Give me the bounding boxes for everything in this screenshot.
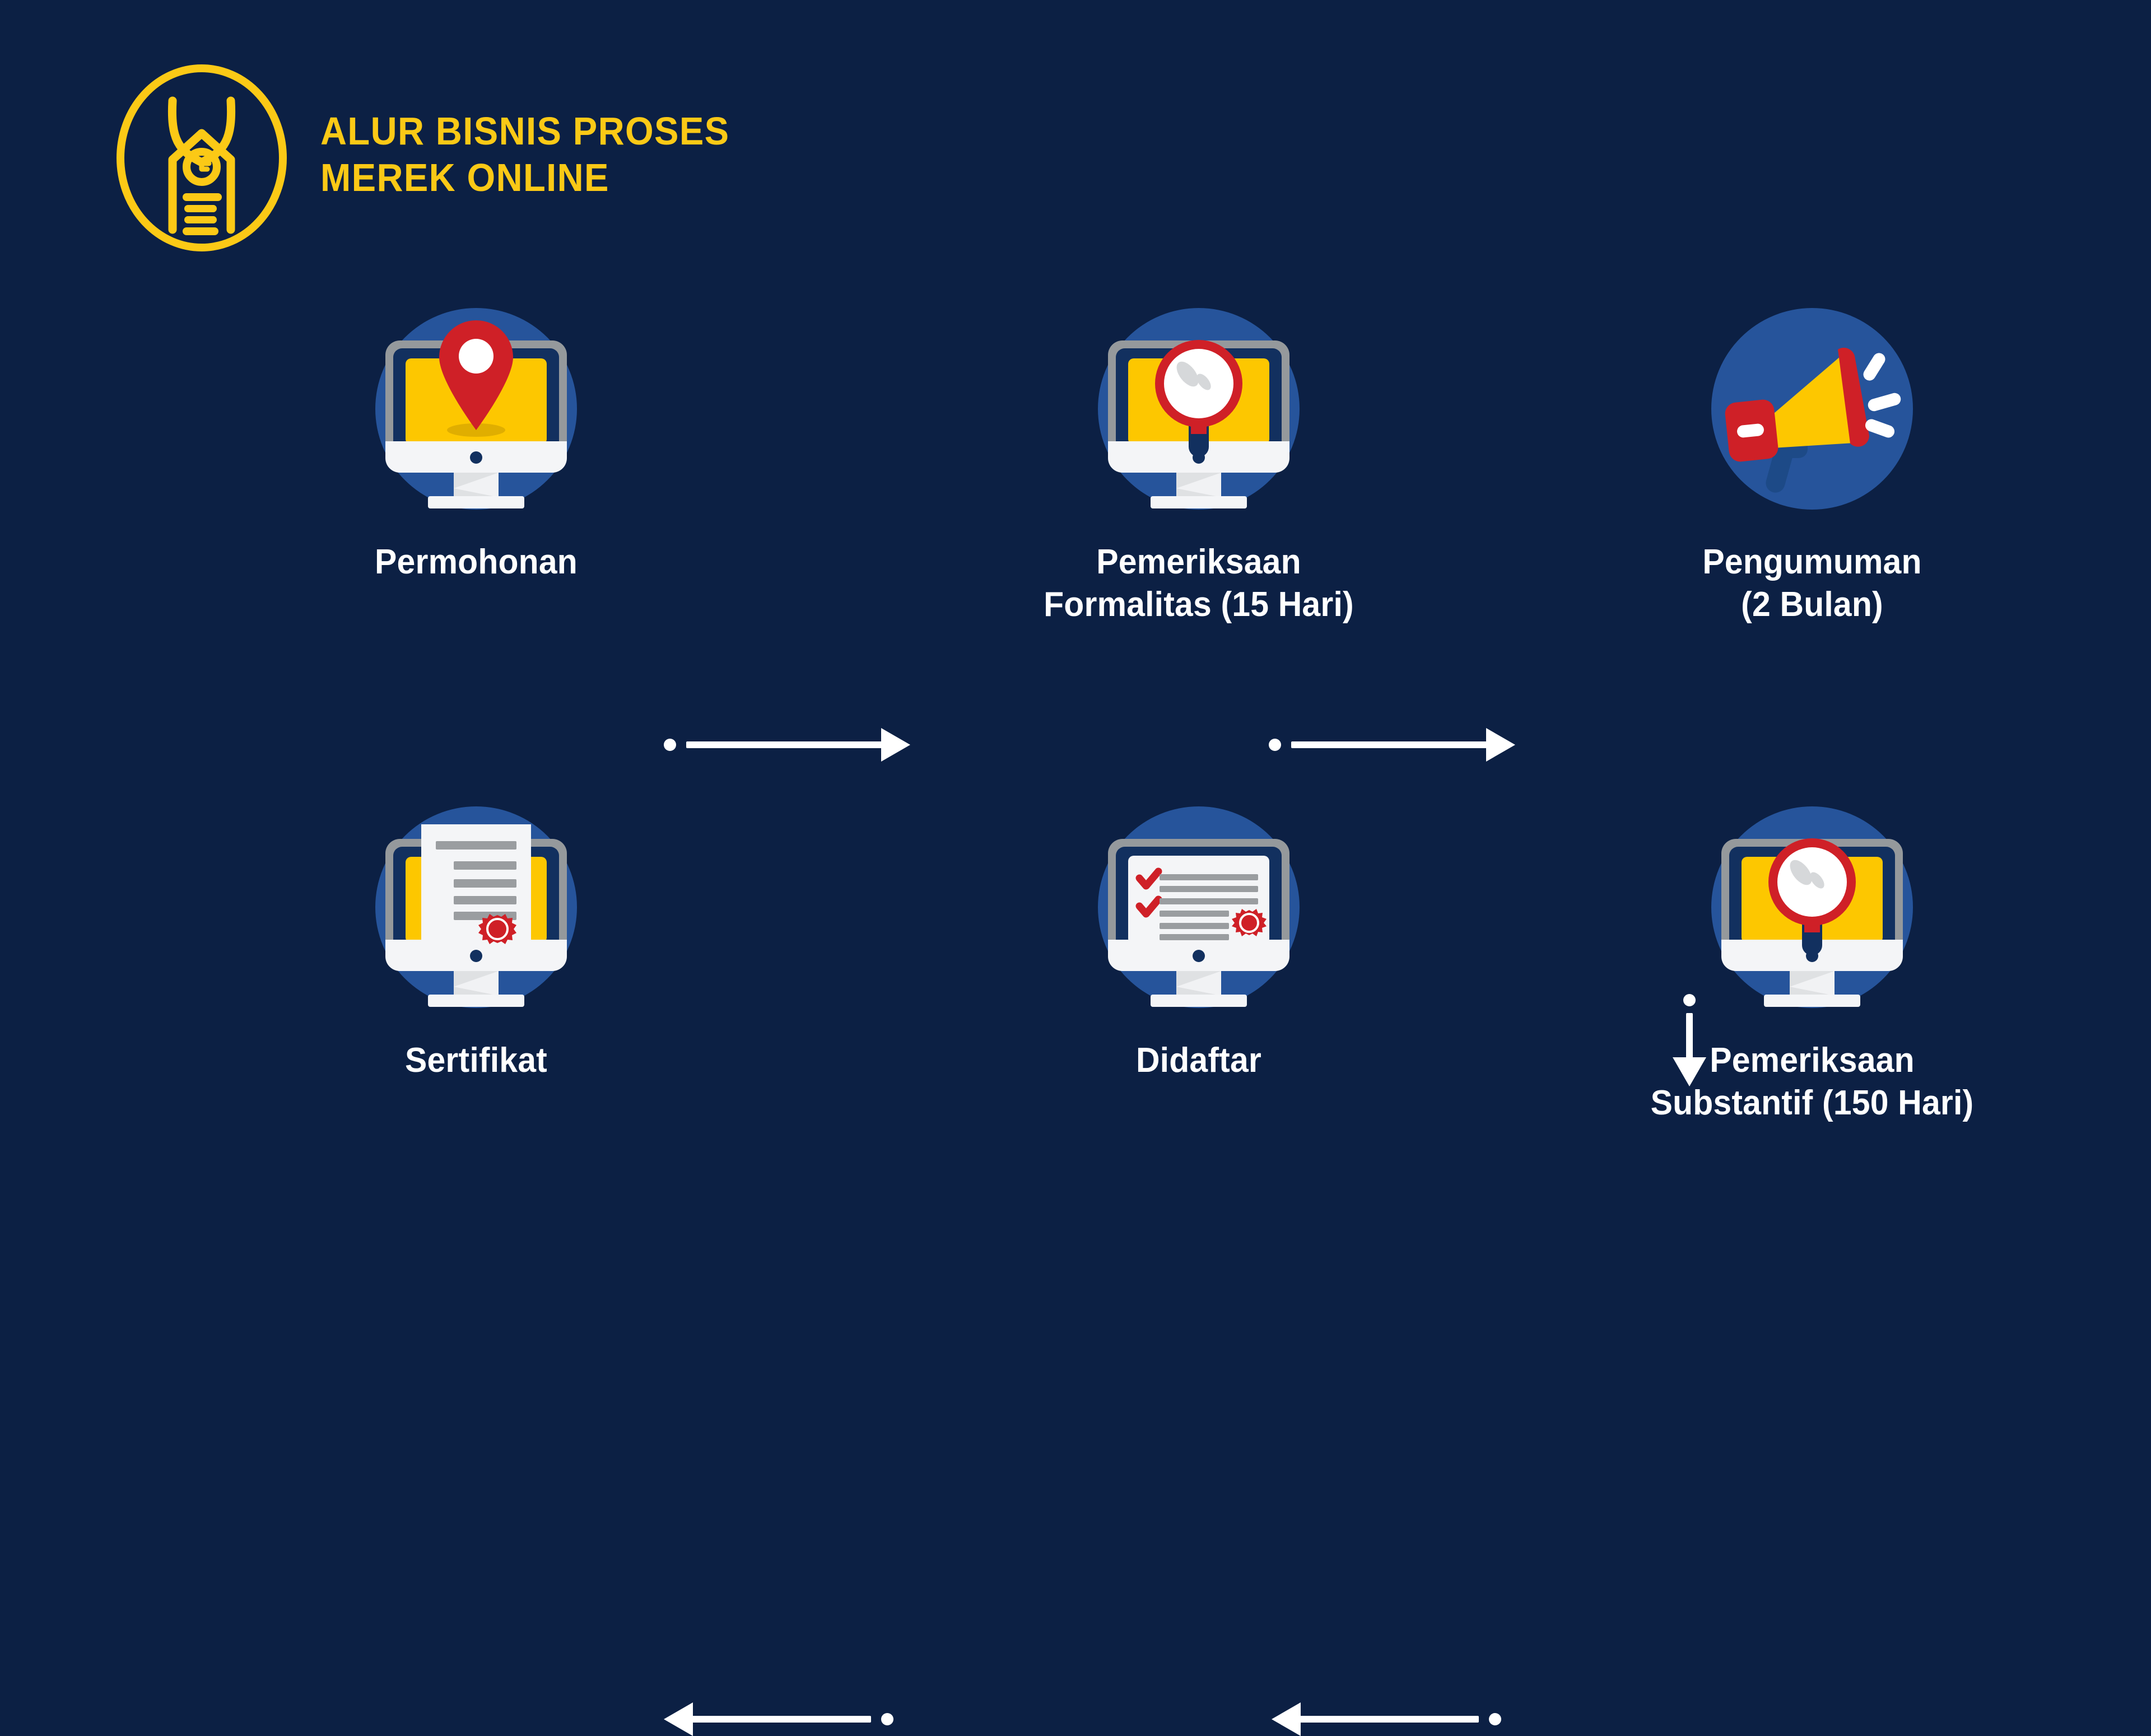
monitor-map-pin-icon xyxy=(358,291,594,526)
monitor-magnifier-icon xyxy=(1694,790,1930,1025)
flow-step-label-line-2: Formalitas (15 Hari) xyxy=(1013,584,1385,626)
header-title-block: ALUR BISNIS PROSES MEREK ONLINE xyxy=(320,108,760,208)
flow-step-permohonan[interactable]: Permohonan xyxy=(280,291,672,584)
arrow-shaft xyxy=(1300,1716,1479,1723)
arrow-shaft xyxy=(692,1716,871,1723)
flow-step-label: Pengumuman (2 Bulan) xyxy=(1626,541,1999,626)
flow-row-bottom: Sertifikat xyxy=(0,790,2151,1215)
page-title-line-1: ALUR BISNIS PROSES xyxy=(320,108,729,155)
arrow-tail-dot xyxy=(1269,739,1281,751)
flow-step-label: Permohonan xyxy=(290,541,663,584)
megaphone-icon xyxy=(1694,291,1930,526)
flow-step-label-line-1: Pengumuman xyxy=(1626,541,1999,584)
arrow-shaft xyxy=(1291,741,1487,748)
monitor-checklist-seal-icon xyxy=(1081,790,1316,1025)
flow-step-label: Pemeriksaan Formalitas (15 Hari) xyxy=(1013,541,1385,626)
infographic-canvas: ALUR BISNIS PROSES MEREK ONLINE xyxy=(0,0,2151,1210)
page-title-line-2: MEREK ONLINE xyxy=(320,155,729,201)
header: ALUR BISNIS PROSES MEREK ONLINE xyxy=(112,62,760,255)
flow-step-sertifikat[interactable]: Sertifikat xyxy=(280,790,672,1082)
flow-step-formalitas[interactable]: Pemeriksaan Formalitas (15 Hari) xyxy=(1003,291,1395,626)
arrow-shaft xyxy=(686,741,882,748)
flow-step-label-line-1: Sertifikat xyxy=(290,1039,663,1082)
flow-step-label-line-2: Substantif (150 Hari) xyxy=(1626,1082,1999,1124)
merek-online-tag-logo xyxy=(112,62,291,255)
arrow-tail-dot xyxy=(881,1713,893,1725)
arrow-head-left-icon xyxy=(664,1702,693,1736)
arrow-tail-dot xyxy=(1489,1713,1501,1725)
flow-step-label-line-1: Pemeriksaan xyxy=(1626,1039,1999,1082)
flow-step-label: Sertifikat xyxy=(290,1039,663,1082)
arrow-head-left-icon xyxy=(1272,1702,1301,1736)
arrow-permohonan-to-formalitas xyxy=(664,734,910,756)
flow-step-label-line-2: (2 Bulan) xyxy=(1626,584,1999,626)
arrow-didaftar-to-sertifikat xyxy=(664,1708,893,1730)
arrow-formalitas-to-pengumuman xyxy=(1269,734,1515,756)
flow-step-label: Didaftar xyxy=(1013,1039,1385,1082)
process-flow: Permohonan xyxy=(0,291,2151,1215)
arrow-tail-dot xyxy=(664,739,676,751)
flow-step-label: Pemeriksaan Substantif (150 Hari) xyxy=(1626,1039,1999,1124)
flow-step-label-line-1: Didaftar xyxy=(1013,1039,1385,1082)
arrow-head-right-icon xyxy=(881,728,910,762)
monitor-magnifier-icon xyxy=(1081,291,1316,526)
flow-step-label-line-1: Pemeriksaan xyxy=(1013,541,1385,584)
flow-step-didaftar[interactable]: Didaftar xyxy=(1003,790,1395,1082)
flow-step-pengumuman[interactable]: Pengumuman (2 Bulan) xyxy=(1616,291,2008,626)
arrow-head-right-icon xyxy=(1486,728,1515,762)
logo-svg xyxy=(112,62,291,255)
monitor-certificate-seal-icon xyxy=(358,790,594,1025)
arrow-substantif-to-didaftar xyxy=(1272,1708,1501,1730)
flow-row-top: Permohonan xyxy=(0,291,2151,683)
flow-step-label-line-1: Permohonan xyxy=(290,541,663,584)
flow-step-substantif[interactable]: Pemeriksaan Substantif (150 Hari) xyxy=(1616,790,2008,1124)
